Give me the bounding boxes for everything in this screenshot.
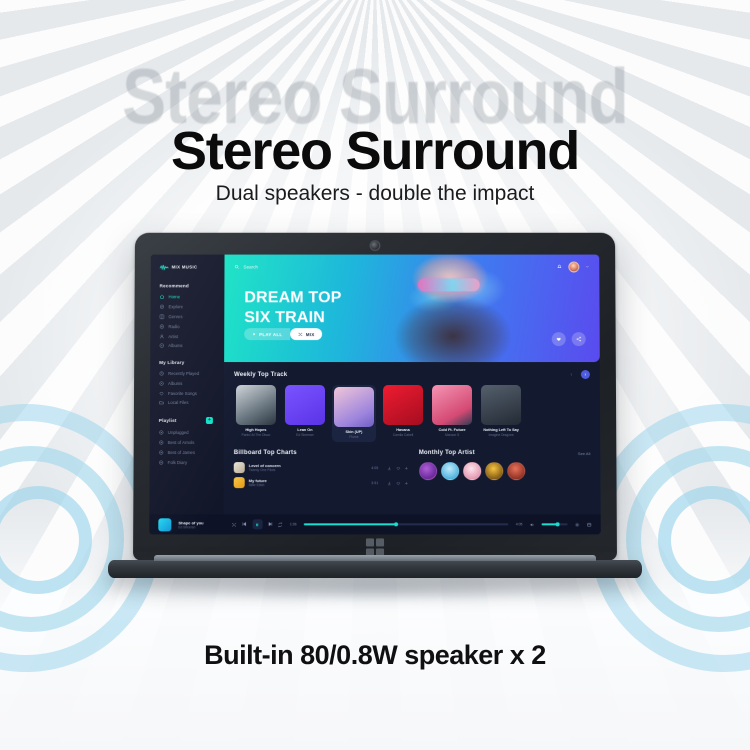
track-card[interactable]: Nothing Left To Say Imagine Dragons	[479, 385, 523, 442]
playlist-icon	[159, 430, 164, 435]
sidebar-item-best-of-james[interactable]: Best of James	[157, 447, 217, 457]
track-card-selected[interactable]: Skin (UP) Flume	[332, 385, 376, 442]
hero-banner: Search DREAM TOP SIX TRAIN PLAY AL	[224, 255, 600, 362]
tablet-device: MIX MUSIC Recommend Home Explore Genres …	[133, 233, 617, 561]
like-button[interactable]	[552, 332, 566, 346]
track-artist: Imagine Dragons	[479, 433, 523, 437]
shuffle-icon[interactable]	[232, 522, 237, 527]
speaker-spec-caption: Built-in 80/0.8W speaker x 2	[0, 640, 750, 671]
mix-button[interactable]: MIX	[290, 328, 322, 340]
track-artist: Billie Eilish	[249, 483, 367, 487]
sidebar-item-albums[interactable]: Albums	[157, 341, 217, 351]
heart-icon	[556, 336, 562, 342]
hero-title: DREAM TOP SIX TRAIN	[244, 288, 341, 327]
carousel-next-button[interactable]: ›	[581, 370, 590, 379]
sidebar-item-label: Favorite Songs	[168, 391, 197, 396]
artist-avatar[interactable]	[463, 462, 481, 480]
play-all-button[interactable]: PLAY ALL	[244, 328, 290, 340]
track-card[interactable]: Cold Ft. Future Maroon 5	[430, 385, 474, 442]
artist-avatar[interactable]	[485, 462, 503, 480]
carousel-nav: ‹ ›	[567, 370, 590, 379]
artists-title: Monthly Top Artist	[419, 450, 475, 456]
now-playing-artist: Ed Sheeran	[223, 525, 224, 529]
clock-icon	[159, 371, 164, 376]
track-duration: 4:05	[371, 466, 378, 470]
download-icon[interactable]	[387, 481, 392, 486]
sidebar-item-best-of-arnols[interactable]: Best of Arnols	[157, 438, 217, 448]
sidebar-section-library-title: My Library	[159, 360, 217, 365]
artist-list	[419, 462, 591, 480]
sidebar-item-label: Genres	[168, 314, 182, 319]
heart-icon[interactable]	[396, 481, 401, 486]
billboard-header: Billboard Top Charts	[234, 450, 409, 456]
billboard-title: Billboard Top Charts	[234, 450, 297, 456]
elapsed-time: 1:36	[290, 522, 297, 526]
sidebar-section-playlist-title: Playlist +	[159, 417, 217, 424]
share-button[interactable]	[572, 332, 586, 346]
album-cover	[334, 387, 374, 427]
share-icon	[576, 336, 582, 342]
album-cover	[234, 462, 245, 473]
gear-icon[interactable]	[575, 522, 580, 527]
lower-section: Billboard Top Charts Level of concern Tw…	[234, 450, 591, 492]
search-placeholder: Search	[243, 264, 258, 269]
album-cover	[432, 385, 472, 425]
sidebar-item-label: Local Files	[168, 400, 189, 405]
disc-icon	[159, 343, 164, 348]
front-camera-icon	[371, 242, 379, 250]
sidebar-item-local-files[interactable]: Local Files	[157, 398, 217, 408]
sidebar-item-label: Folk Diary	[168, 460, 187, 465]
weekly-top-track-header: Weekly Top Track ‹ ›	[234, 370, 590, 379]
sidebar-item-explore[interactable]: Explore	[157, 302, 217, 312]
sidebar-item-genres[interactable]: Genres	[157, 312, 217, 322]
volume-icon[interactable]	[529, 522, 534, 527]
artist-avatar[interactable]	[419, 462, 437, 480]
download-icon[interactable]	[387, 466, 392, 471]
artists-column: Monthly Top Artist See All	[419, 450, 591, 492]
sidebar-item-radio[interactable]: Radio	[157, 322, 217, 332]
artist-avatar[interactable]	[507, 462, 525, 480]
billboard-row-actions	[387, 481, 409, 486]
page-subtitle: Dual speakers - double the impact	[0, 182, 750, 206]
heart-icon	[159, 391, 164, 396]
avatar[interactable]	[568, 261, 579, 272]
prev-icon[interactable]	[242, 522, 248, 528]
track-artist: Twenty One Pilots	[249, 468, 367, 472]
weekly-track-list: High Hopes Panic! At The Disco Lean On E…	[234, 385, 590, 442]
album-cover	[481, 385, 521, 425]
play-pause-button[interactable]	[252, 519, 262, 529]
weekly-top-track-title: Weekly Top Track	[234, 372, 287, 378]
grid-icon	[159, 314, 164, 319]
app-sidebar: MIX MUSIC Recommend Home Explore Genres …	[149, 255, 224, 535]
shuffle-icon	[298, 332, 303, 336]
topbar-actions	[556, 261, 589, 272]
progress-slider[interactable]	[304, 524, 509, 525]
add-playlist-button[interactable]: +	[206, 417, 213, 424]
playlist-icon	[159, 440, 164, 445]
sidebar-item-unplugged[interactable]: Unplugged	[157, 428, 217, 438]
queue-icon[interactable]	[587, 522, 592, 527]
play-icon	[252, 332, 256, 336]
sidebar-item-library-albums[interactable]: Albums	[157, 378, 217, 388]
album-cover	[234, 477, 245, 488]
sidebar-item-favorite-songs[interactable]: Favorite Songs	[157, 388, 217, 398]
app-topbar: Search	[224, 255, 599, 279]
sidebar-item-home[interactable]: Home	[158, 292, 218, 302]
app-logo-text: MIX MUSIC	[172, 265, 198, 270]
track-card[interactable]: Lean On Ed Sheeran	[283, 385, 327, 442]
player-bar: Shape of you Ed Sheeran 1:36	[223, 514, 600, 534]
repeat-icon[interactable]	[278, 522, 283, 527]
next-icon[interactable]	[267, 522, 273, 528]
app-main: Search DREAM TOP SIX TRAIN PLAY AL	[223, 255, 600, 535]
sidebar-item-label: Best of James	[168, 450, 195, 455]
billboard-column: Billboard Top Charts Level of concern Tw…	[234, 450, 409, 492]
sidebar-section-recommend-title: Recommend	[160, 283, 218, 288]
volume-slider[interactable]	[542, 524, 568, 525]
radio-icon	[159, 324, 164, 329]
billboard-meta: Level of concern Twenty One Pilots	[249, 463, 367, 472]
sidebar-item-label: Best of Arnols	[168, 440, 195, 445]
sidebar-section-playlist-label: Playlist	[159, 418, 177, 423]
app-logo[interactable]: MIX MUSIC	[158, 264, 218, 271]
track-artist: Camila Cabell	[381, 433, 425, 437]
tablet-screen: MIX MUSIC Recommend Home Explore Genres …	[149, 255, 601, 535]
sidebar-item-label: Albums	[168, 381, 182, 386]
artists-header: Monthly Top Artist See All	[419, 450, 591, 456]
billboard-row[interactable]: My future Billie Eilish 3:51	[234, 477, 409, 488]
pause-icon	[255, 522, 260, 527]
tablet-keyboard-base	[108, 560, 642, 578]
track-artist: Panic! At The Disco	[234, 433, 278, 437]
track-card[interactable]: High Hopes Panic! At The Disco	[234, 385, 278, 442]
album-cover	[383, 385, 423, 425]
waveform-icon	[160, 264, 169, 271]
user-icon	[159, 334, 164, 339]
volume-knob[interactable]	[556, 523, 560, 527]
progress-knob[interactable]	[394, 522, 398, 526]
home-icon	[160, 295, 165, 300]
disc-icon	[159, 381, 164, 386]
chevron-down-icon[interactable]	[585, 265, 589, 269]
sidebar-item-label: Explore	[168, 304, 183, 309]
track-artist: Flume	[332, 435, 376, 439]
hero-title-line1: DREAM TOP	[244, 288, 341, 307]
mix-label: MIX	[306, 332, 315, 337]
play-all-label: PLAY ALL	[259, 332, 282, 337]
billboard-row[interactable]: Level of concern Twenty One Pilots 4:05	[234, 462, 409, 473]
device-shadow	[150, 576, 600, 602]
duration-time: 4:05	[516, 522, 523, 526]
sidebar-item-label: Recently Played	[168, 371, 199, 376]
sidebar-item-label: Radio	[168, 324, 179, 329]
hero-buttons: PLAY ALL MIX	[244, 328, 322, 340]
windows-logo-icon	[366, 538, 384, 556]
album-cover	[285, 385, 325, 425]
hero-action-buttons	[552, 332, 586, 346]
sidebar-item-label: Unplugged	[168, 430, 189, 435]
bell-icon[interactable]	[556, 264, 562, 270]
track-duration: 3:51	[371, 481, 378, 485]
sidebar-item-artist[interactable]: Artist	[157, 331, 217, 341]
track-card[interactable]: Havana Camila Cabell	[381, 385, 425, 442]
hero-title-line2: SIX TRAIN	[244, 308, 341, 327]
playlist-icon	[159, 450, 164, 455]
sidebar-item-label: Home	[168, 295, 179, 300]
heart-icon[interactable]	[396, 466, 401, 471]
sidebar-item-label: Artist	[168, 334, 178, 339]
app-content: Weekly Top Track ‹ › High Hopes Panic! A…	[223, 362, 600, 534]
sidebar-item-label: Albums	[168, 343, 182, 348]
sidebar-item-recently-played[interactable]: Recently Played	[157, 369, 217, 379]
billboard-meta: My future Billie Eilish	[249, 478, 367, 487]
artist-avatar[interactable]	[441, 462, 459, 480]
carousel-prev-button[interactable]: ‹	[567, 370, 576, 379]
sidebar-item-folk-diary[interactable]: Folk Diary	[157, 457, 217, 467]
playlist-icon	[159, 460, 164, 465]
plus-icon[interactable]	[404, 466, 409, 471]
compass-icon	[159, 304, 164, 309]
see-all-link[interactable]: See All	[578, 451, 590, 456]
track-artist: Ed Sheeran	[283, 433, 327, 437]
plus-icon[interactable]	[404, 481, 409, 486]
billboard-row-actions	[387, 466, 409, 471]
now-playing-meta: Shape of you Ed Sheeran	[223, 520, 224, 529]
search-icon	[234, 264, 239, 269]
progress-fill	[304, 524, 396, 525]
player-controls	[232, 519, 283, 529]
folder-icon	[159, 400, 164, 405]
album-cover	[236, 385, 276, 425]
search-input[interactable]: Search	[234, 264, 258, 269]
page-title: Stereo Surround	[0, 120, 750, 182]
track-artist: Maroon 5	[430, 433, 474, 437]
